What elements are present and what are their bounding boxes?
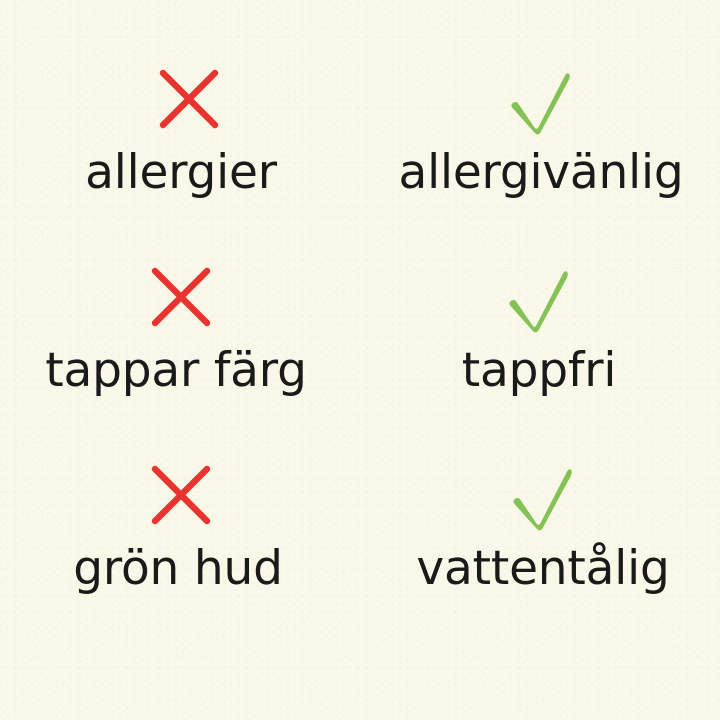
check-icon [507,68,573,142]
comparison-cell-negative-3: grön hud [0,430,360,628]
check-icon [509,464,575,538]
comparison-grid: allergier allergivänlig tappar fä [0,0,720,720]
cross-icon [150,266,212,340]
comparison-label-negative-1: allergier [85,148,277,198]
comparison-cell-positive-1: allergivänlig [360,34,720,232]
comparison-cell-negative-1: allergier [0,34,360,232]
comparison-cell-positive-2: tappfri [360,232,720,430]
check-icon [505,266,571,340]
comparison-label-negative-2: tappar färg [45,346,306,396]
comparison-label-positive-2: tappfri [462,346,616,396]
comparison-poster: allergier allergivänlig tappar fä [0,0,720,720]
comparison-label-positive-3: vattentålig [416,544,669,594]
comparison-label-negative-3: grön hud [73,544,282,594]
comparison-label-positive-1: allergivänlig [399,148,684,198]
cross-icon [158,68,220,142]
comparison-cell-negative-2: tappar färg [0,232,360,430]
comparison-cell-positive-3: vattentålig [360,430,720,628]
cross-icon [150,464,212,538]
